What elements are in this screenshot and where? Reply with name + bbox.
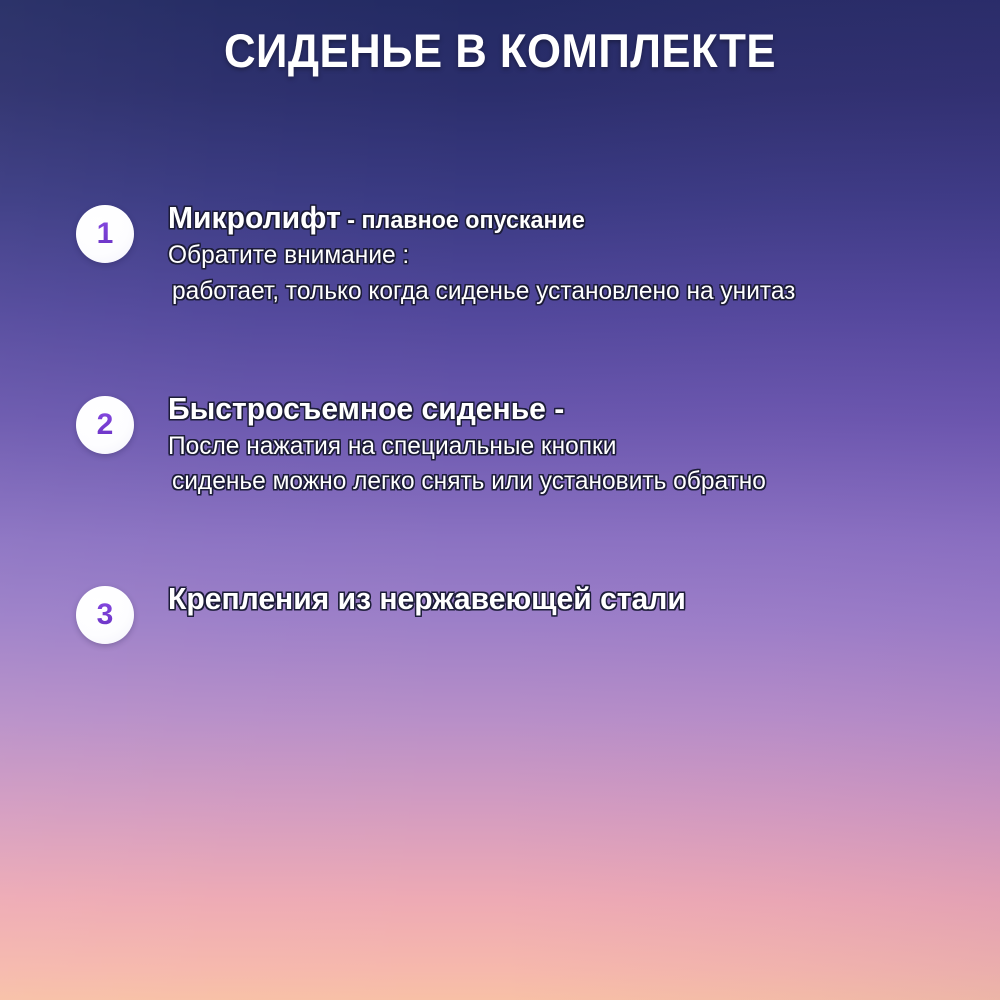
feature-line-1-1: Обратите внимание : — [168, 239, 966, 272]
feature-heading-3: Крепления из нержавеющей стали — [168, 582, 958, 617]
feature-list: 1 Микролифт - плавное опускание Обратите… — [0, 201, 1000, 661]
feature-body-2: Быстросъемное сиденье - После нажатия на… — [168, 392, 1000, 498]
feature-line-2-1: После нажатия на специальные кнопки — [168, 430, 966, 463]
feature-line-1-2: работает, только когда сиденье установле… — [172, 275, 966, 308]
feature-body-1: Микролифт - плавное опускание Обратите в… — [168, 201, 1000, 307]
feature-number-badge-2: 2 — [76, 396, 134, 454]
poster-root: СИДЕНЬЕ В КОМПЛЕКТЕ 1 Микролифт - плавно… — [0, 0, 1000, 1000]
feature-number-1: 1 — [97, 219, 114, 249]
feature-body-3: Крепления из нержавеющей стали — [168, 582, 1000, 617]
feature-line-2-2: сиденье можно легко снять или установить… — [172, 465, 966, 498]
feature-heading-bold-1: Микролифт — [168, 200, 341, 235]
feature-item-1: 1 Микролифт - плавное опускание Обратите… — [0, 201, 1000, 307]
feature-number-2: 2 — [97, 410, 114, 440]
page-title: СИДЕНЬЕ В КОМПЛЕКТЕ — [35, 26, 965, 75]
feature-number-3: 3 — [97, 600, 114, 630]
feature-heading-rest-1: - плавное опускание — [341, 207, 585, 234]
feature-heading-1: Микролифт - плавное опускание — [168, 201, 958, 236]
feature-number-badge-3: 3 — [76, 586, 134, 644]
feature-number-badge-1: 1 — [76, 205, 134, 263]
feature-heading-2: Быстросъемное сиденье - — [168, 392, 958, 427]
feature-item-3: 3 Крепления из нержавеющей стали — [0, 582, 1000, 662]
feature-heading-bold-3: Крепления из нержавеющей стали — [168, 581, 686, 616]
feature-heading-bold-2: Быстросъемное сиденье - — [168, 391, 564, 426]
feature-item-2: 2 Быстросъемное сиденье - После нажатия … — [0, 392, 1000, 498]
